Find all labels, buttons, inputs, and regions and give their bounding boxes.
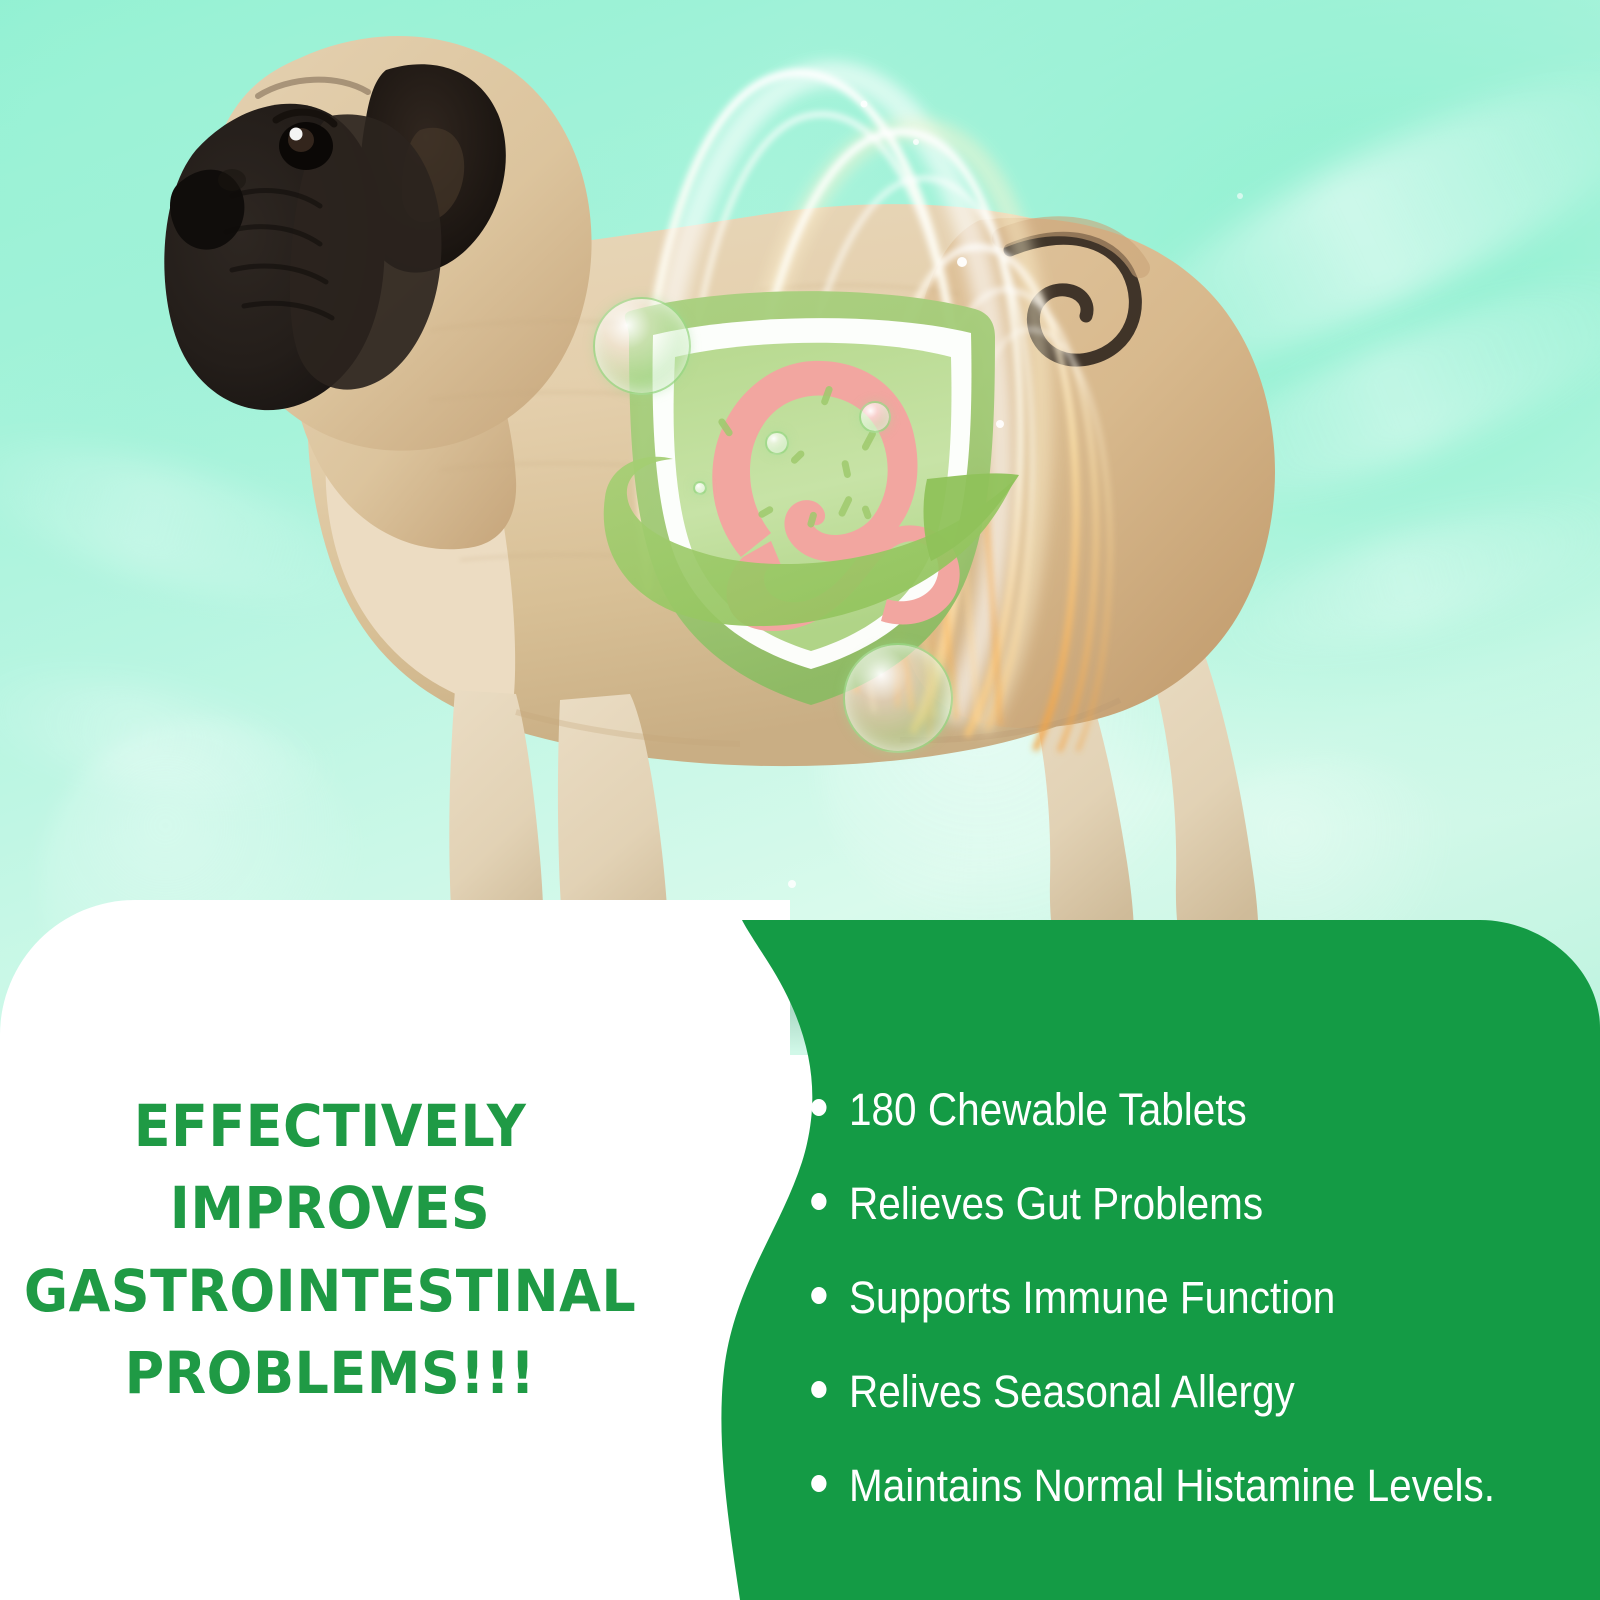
bullet-dot-icon bbox=[811, 1099, 826, 1116]
headline-line-2: IMPROVES bbox=[23, 1167, 637, 1249]
headline-line-3: GASTROINTESTINAL bbox=[23, 1250, 637, 1332]
ad-canvas: EFFECTIVELY IMPROVES GASTROINTESTINAL PR… bbox=[0, 0, 1600, 1600]
bubble bbox=[593, 297, 691, 395]
bullet-dot-icon bbox=[811, 1381, 826, 1398]
bullet-dot-icon bbox=[811, 1475, 826, 1492]
benefit-text: Maintains Normal Histamine Levels. bbox=[849, 1460, 1495, 1511]
list-item: Relives Seasonal Allergy bbox=[795, 1360, 1506, 1424]
benefit-text: Relives Seasonal Allergy bbox=[849, 1366, 1295, 1417]
bubble bbox=[843, 643, 953, 753]
benefit-text: Relieves Gut Problems bbox=[849, 1178, 1263, 1229]
list-item: Relieves Gut Problems bbox=[795, 1172, 1506, 1236]
list-item: 180 Chewable Tablets bbox=[795, 1078, 1506, 1142]
bubble bbox=[765, 431, 789, 455]
list-item: Maintains Normal Histamine Levels. bbox=[795, 1454, 1506, 1518]
gut-health-shield-emblem bbox=[575, 265, 1045, 715]
benefits-list: 180 Chewable Tablets Relieves Gut Proble… bbox=[795, 1078, 1585, 1517]
benefit-text: Supports Immune Function bbox=[849, 1272, 1335, 1323]
headline-line-4: PROBLEMS!!! bbox=[23, 1332, 637, 1414]
headline-line-1: EFFECTIVELY bbox=[23, 1085, 637, 1167]
bullet-dot-icon bbox=[811, 1287, 826, 1304]
bubble bbox=[859, 401, 891, 433]
page-title: EFFECTIVELY IMPROVES GASTROINTESTINAL PR… bbox=[23, 1085, 637, 1414]
bubble bbox=[693, 481, 707, 495]
benefit-text: 180 Chewable Tablets bbox=[849, 1084, 1247, 1135]
list-item: Supports Immune Function bbox=[795, 1266, 1506, 1330]
bullet-dot-icon bbox=[811, 1193, 826, 1210]
